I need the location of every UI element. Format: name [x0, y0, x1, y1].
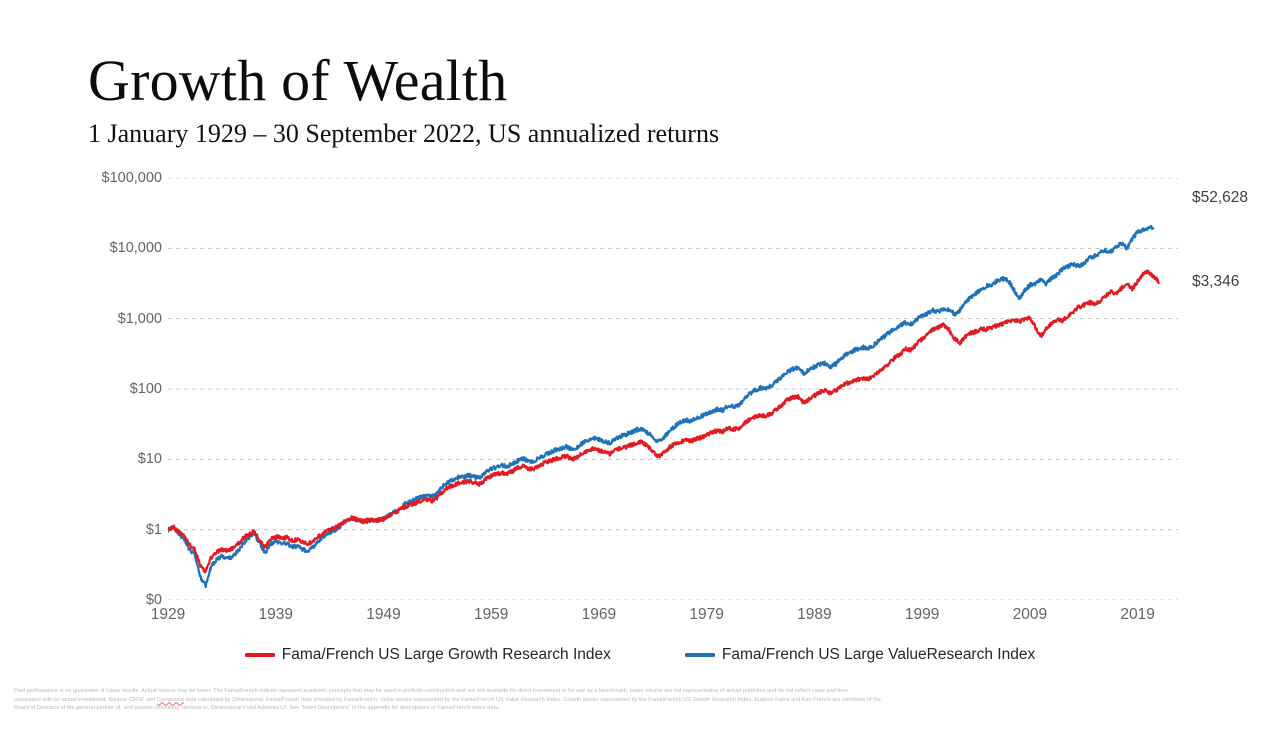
chart-legend: Fama/French US Large Growth Research Ind…: [0, 646, 1280, 664]
y-axis-tick-label: $1,000: [118, 311, 162, 327]
x-axis-tick-label: 1989: [797, 606, 831, 624]
x-axis-tick-label: 2019: [1120, 606, 1154, 624]
x-axis-tick-label: 1929: [151, 606, 185, 624]
legend-swatch-growth-icon: [245, 653, 275, 657]
disclaimer-misspelled-word: Compustat: [157, 697, 184, 703]
x-axis-tick-label: 1949: [366, 606, 400, 624]
end-value-label: $3,346: [1192, 273, 1239, 291]
y-axis: $100,000$10,000$1,000$100$10$1$0: [58, 178, 162, 600]
disclaimer-line-2-b: data calculated by Dimensional. Fama/Fre…: [184, 697, 881, 703]
end-value-label: $52,628: [1192, 189, 1248, 207]
growth-of-wealth-line-chart: [168, 178, 1178, 600]
disclaimer: Past performance is no guarantee of futu…: [14, 687, 1268, 713]
legend-item-value[interactable]: Fama/French US Large ValueResearch Index: [685, 646, 1035, 664]
series-lines: [168, 226, 1159, 587]
series-line-growth: [168, 271, 1159, 573]
x-axis-tick-label: 1979: [689, 606, 723, 624]
legend-swatch-value-icon: [685, 653, 715, 657]
x-axis-tick-label: 1959: [474, 606, 508, 624]
x-axis-tick-label: 1969: [582, 606, 616, 624]
disclaimer-line-3: Board of Directors of the general partne…: [14, 704, 1268, 713]
slide-root: Growth of Wealth 1 January 1929 – 30 Sep…: [0, 0, 1280, 732]
disclaimer-line-1: Past performance is no guarantee of futu…: [14, 687, 1268, 696]
x-axis-tick-label: 1999: [905, 606, 939, 624]
page-subtitle: 1 January 1929 – 30 September 2022, US a…: [88, 119, 719, 149]
x-axis-tick-label: 1939: [258, 606, 292, 624]
legend-label: Fama/French US Large ValueResearch Index: [722, 646, 1035, 664]
disclaimer-line-2-a: associated with an actual investment. So…: [14, 697, 157, 703]
disclaimer-line-2: associated with an actual investment. So…: [14, 696, 1268, 705]
legend-item-growth[interactable]: Fama/French US Large Growth Research Ind…: [245, 646, 611, 664]
y-axis-tick-label: $10: [138, 451, 162, 467]
y-axis-tick-label: $100,000: [102, 170, 162, 186]
chart-plot-area: [168, 178, 1178, 600]
x-axis: 1929193919491959196919791989199920092019: [168, 606, 1178, 630]
series-line-value: [168, 226, 1153, 587]
legend-label: Fama/French US Large Growth Research Ind…: [282, 646, 611, 664]
y-axis-tick-label: $100: [130, 381, 162, 397]
y-axis-tick-label: $10,000: [110, 240, 162, 256]
x-axis-tick-label: 2009: [1013, 606, 1047, 624]
y-axis-tick-label: $1: [146, 522, 162, 538]
page-title: Growth of Wealth: [88, 50, 507, 112]
